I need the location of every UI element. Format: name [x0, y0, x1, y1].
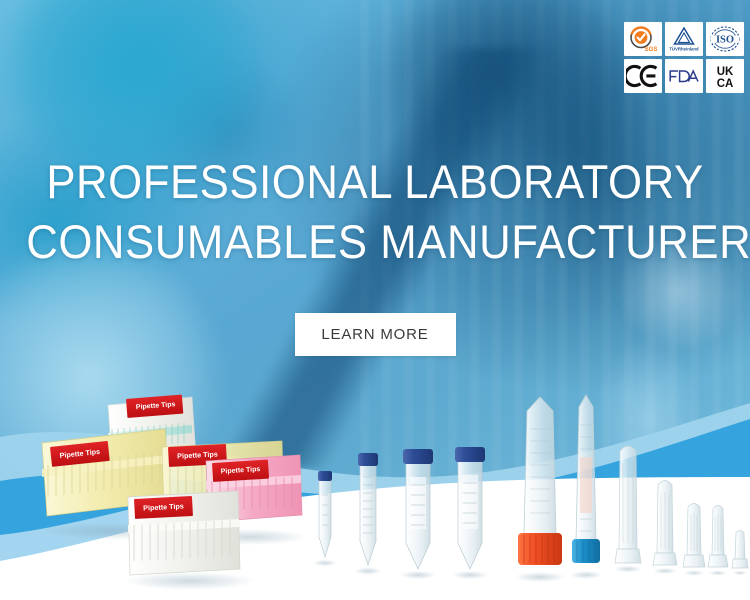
- hero-headline: PROFESSIONAL LABORATORY CONSUMABLES MANU…: [26, 152, 724, 272]
- pipette-tip-box-clear: Pipette Tips: [124, 491, 256, 590]
- microcentrifuge-tube-mini: [732, 531, 748, 576]
- svg-text:TÜVRheinland: TÜVRheinland: [669, 47, 699, 52]
- product-showcase: Pipette Tips Pipette Tips: [0, 385, 750, 600]
- fda-badge: [665, 59, 703, 93]
- centrifuge-tube-graduated: [354, 453, 382, 575]
- headline-line-1: PROFESSIONAL LABORATORY: [46, 155, 703, 208]
- centrifuge-tube-15ml: [400, 449, 436, 579]
- ce-badge: [624, 59, 662, 93]
- ukca-badge: UK CA: [706, 59, 744, 93]
- certification-badge-group: SGS TÜVRheinland ISO: [624, 22, 744, 93]
- sgs-badge: SGS: [624, 22, 662, 56]
- cta-container: LEARN MORE: [0, 313, 750, 356]
- microcentrifuge-tube-medium: [683, 504, 705, 576]
- conical-tube-15ml-blue-cap: [570, 395, 602, 579]
- svg-text:UK: UK: [717, 66, 734, 78]
- headline-line-2: CONSUMABLES MANUFACTURER: [26, 212, 724, 272]
- learn-more-button[interactable]: LEARN MORE: [295, 313, 456, 356]
- microcentrifuge-tube-small: [708, 506, 728, 576]
- svg-text:ISO: ISO: [716, 35, 734, 46]
- microcentrifuge-tube-large: [653, 481, 677, 575]
- centrifuge-tube-group: [313, 447, 488, 579]
- iso-badge: ISO: [706, 22, 744, 56]
- svg-text:CA: CA: [717, 78, 734, 90]
- microcentrifuge-tube-xl: [614, 446, 642, 572]
- pipette-tip-box-group: Pipette Tips Pipette Tips: [38, 395, 308, 590]
- conical-tube-50ml-orange-cap: [514, 397, 566, 582]
- centrifuge-tube-small: [313, 471, 337, 566]
- conical-tube-group: [514, 395, 748, 582]
- tuv-rheinland-badge: TÜVRheinland: [665, 22, 703, 56]
- svg-text:SGS: SGS: [645, 47, 658, 53]
- hero-banner: SGS TÜVRheinland ISO: [0, 0, 750, 600]
- centrifuge-tube-50ml: [452, 447, 488, 579]
